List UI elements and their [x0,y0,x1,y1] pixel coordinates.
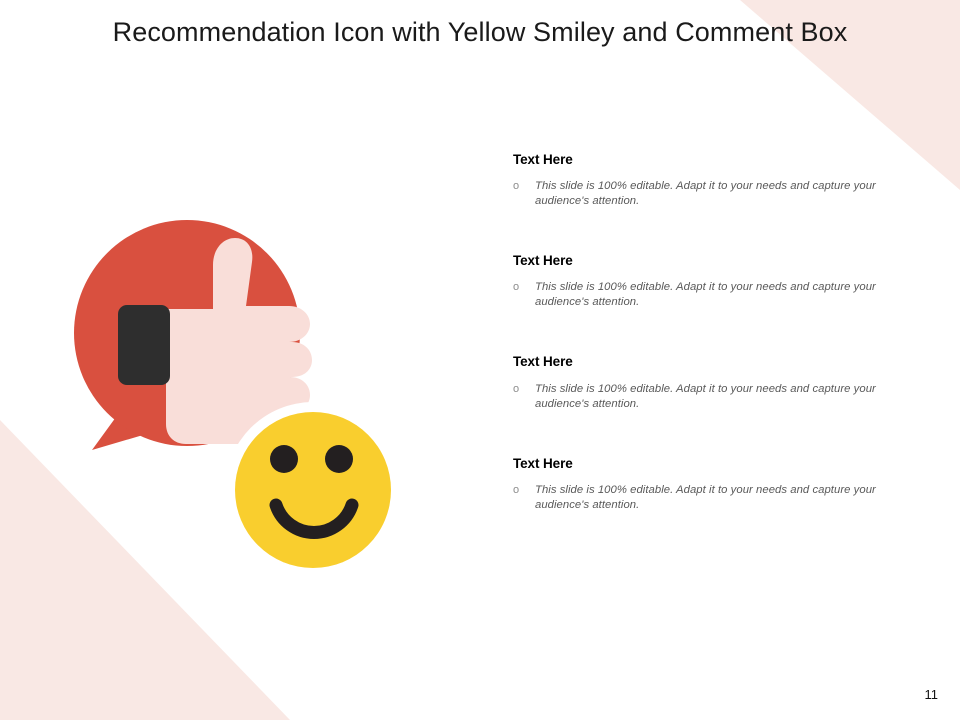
block-heading: Text Here [513,456,913,472]
block-body-text: This slide is 100% editable. Adapt it to… [535,382,913,412]
smiley-right-eye [325,445,353,473]
block-body-text: This slide is 100% editable. Adapt it to… [535,483,913,513]
recommendation-graphic [60,205,440,595]
block-body-row: o This slide is 100% editable. Adapt it … [513,382,913,412]
smiley-face [235,412,391,568]
text-block-2: Text Here o This slide is 100% editable.… [513,253,913,310]
bullet-icon: o [513,179,535,194]
page-title: Recommendation Icon with Yellow Smiley a… [0,16,960,48]
block-heading: Text Here [513,152,913,168]
text-block-3: Text Here o This slide is 100% editable.… [513,354,913,411]
text-block-4: Text Here o This slide is 100% editable.… [513,456,913,513]
block-heading: Text Here [513,354,913,370]
block-body-text: This slide is 100% editable. Adapt it to… [535,280,913,310]
bullet-icon: o [513,280,535,295]
block-body-text: This slide is 100% editable. Adapt it to… [535,179,913,209]
block-body-row: o This slide is 100% editable. Adapt it … [513,179,913,209]
thumbs-up-cuff [118,305,170,385]
slide-canvas: Recommendation Icon with Yellow Smiley a… [0,0,960,720]
block-body-row: o This slide is 100% editable. Adapt it … [513,280,913,310]
bullet-icon: o [513,382,535,397]
page-number: 11 [925,687,939,702]
yellow-smiley-icon [225,402,401,578]
smiley-left-eye [270,445,298,473]
block-heading: Text Here [513,253,913,269]
block-body-row: o This slide is 100% editable. Adapt it … [513,483,913,513]
text-block-1: Text Here o This slide is 100% editable.… [513,152,913,209]
content-list: Text Here o This slide is 100% editable.… [513,152,913,513]
bullet-icon: o [513,483,535,498]
